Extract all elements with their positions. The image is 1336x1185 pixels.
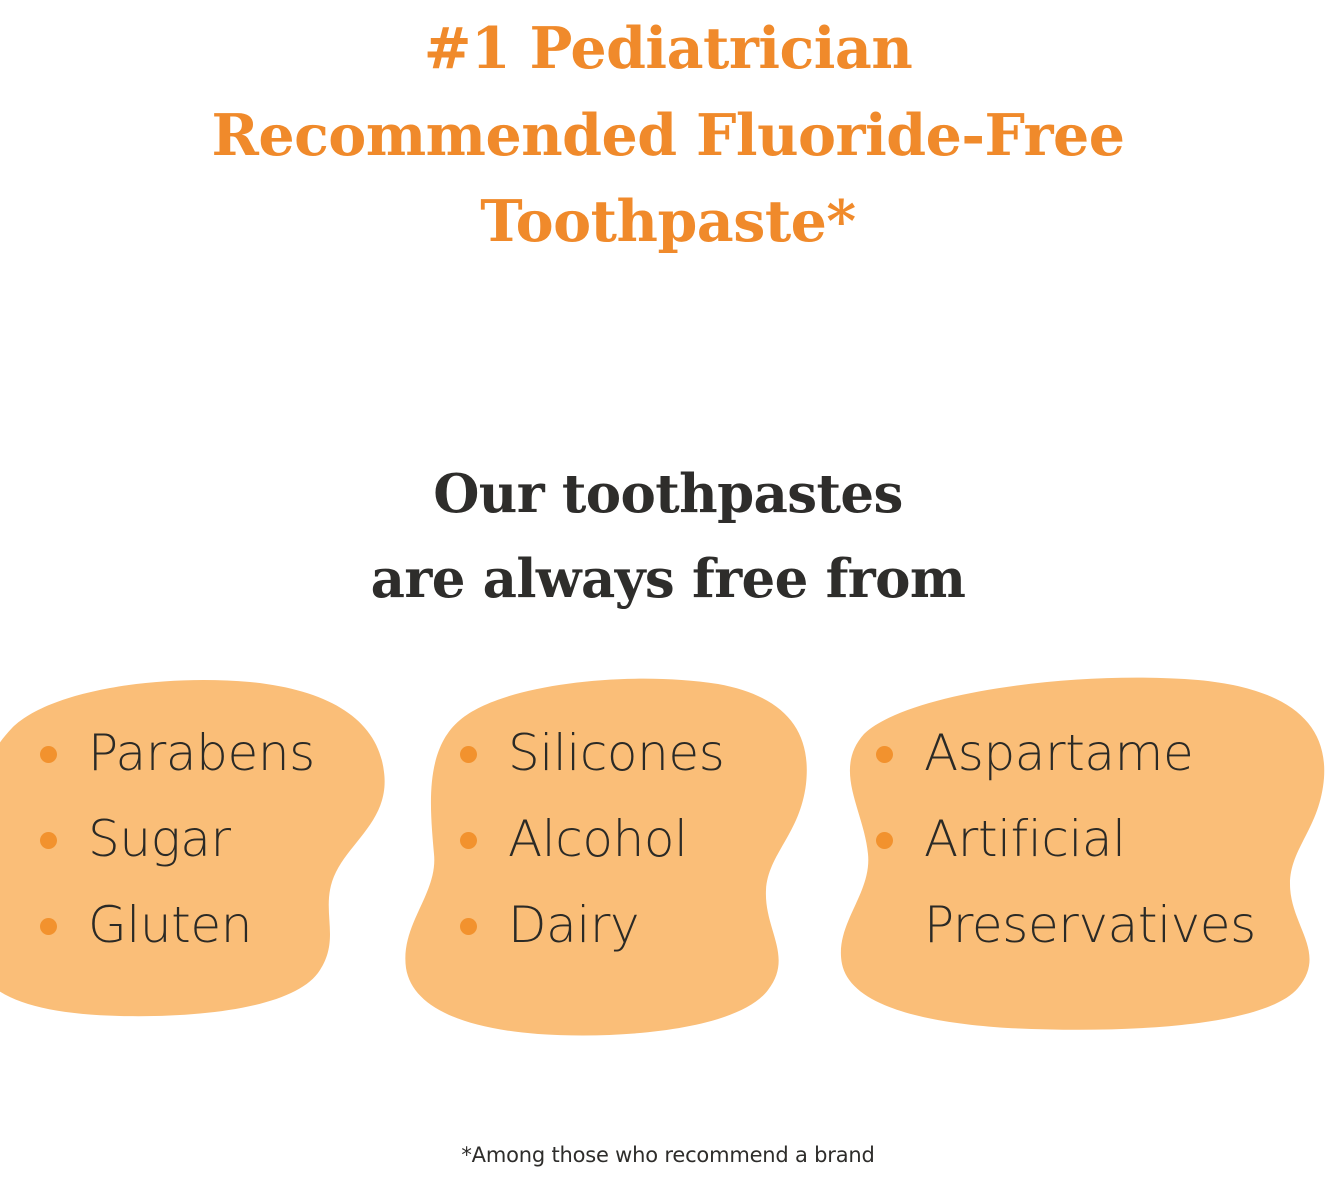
bullet-dot-icon	[876, 832, 893, 849]
subheading: Our toothpastes are always free from	[0, 452, 1336, 622]
list-item: Sugar	[40, 796, 315, 882]
list-item-label: Alcohol	[460, 796, 688, 882]
bullet-dot-icon	[40, 918, 57, 935]
list-item-label: Preservatives	[876, 882, 1256, 968]
list-item: Silicones	[460, 710, 724, 796]
list-item: Aspartame	[876, 710, 1256, 796]
bullet-dot-icon	[876, 746, 893, 763]
list-item: Dairy	[460, 882, 724, 968]
footnote: *Among those who recommend a brand	[0, 1143, 1336, 1167]
headline-line-2: Recommended Fluoride-Free	[0, 93, 1336, 180]
headline-line-3: Toothpaste*	[0, 179, 1336, 266]
free-from-list-2: Silicones Alcohol Dairy	[460, 710, 724, 968]
list-item-label: Silicones	[460, 710, 724, 796]
free-from-card-1: Parabens Sugar Gluten	[0, 668, 400, 1028]
list-item: Artificial	[876, 796, 1256, 882]
list-item-label: Dairy	[460, 882, 639, 968]
free-from-card-2: Silicones Alcohol Dairy	[398, 668, 818, 1043]
free-from-list-1: Parabens Sugar Gluten	[40, 710, 315, 968]
subheading-line-2: are always free from	[0, 537, 1336, 622]
headline-line-1: #1 Pediatrician	[0, 6, 1336, 93]
bullet-dot-icon	[460, 746, 477, 763]
free-from-card-3: Aspartame Artificial Preservatives	[828, 668, 1333, 1038]
bullet-dot-icon	[460, 918, 477, 935]
free-from-list-3: Aspartame Artificial Preservatives	[876, 710, 1256, 968]
subheading-line-1: Our toothpastes	[0, 452, 1336, 537]
list-item-label: Artificial	[876, 796, 1126, 882]
list-item: Parabens	[40, 710, 315, 796]
list-item-label: Parabens	[40, 710, 315, 796]
list-item-label: Gluten	[40, 882, 252, 968]
list-item: Preservatives	[876, 882, 1256, 968]
bullet-dot-icon	[40, 746, 57, 763]
headline: #1 Pediatrician Recommended Fluoride-Fre…	[0, 6, 1336, 266]
list-item: Alcohol	[460, 796, 724, 882]
list-item-label: Sugar	[40, 796, 231, 882]
bullet-dot-icon	[460, 832, 477, 849]
list-item-label: Aspartame	[876, 710, 1193, 796]
bullet-dot-icon	[40, 832, 57, 849]
list-item: Gluten	[40, 882, 315, 968]
